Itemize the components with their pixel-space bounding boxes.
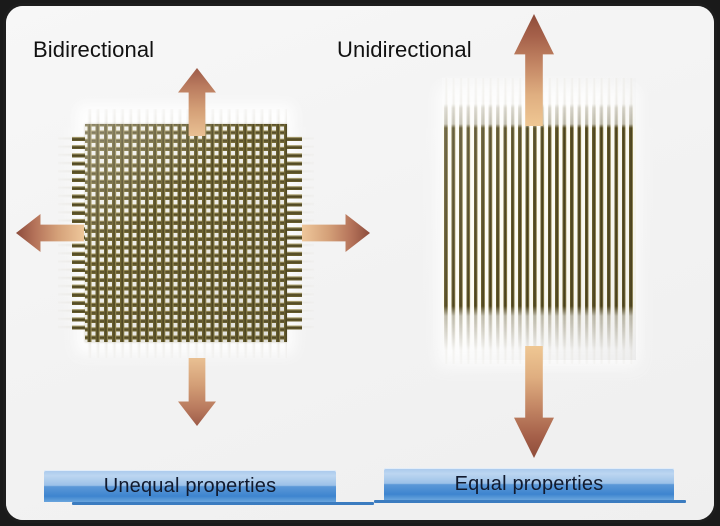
caption-bidirectional: Unequal properties — [44, 470, 336, 510]
figure-root: Bidirectional Unidirectional — [0, 0, 720, 526]
caption-right-text: Equal properties — [455, 473, 604, 496]
caption-left-bar: Unequal properties — [44, 470, 336, 502]
panel-heading-unidirectional: Unidirectional — [337, 37, 472, 63]
caption-unidirectional: Equal properties — [384, 468, 674, 508]
figure-frame: Bidirectional Unidirectional — [3, 3, 717, 523]
panel-unidirectional: Unidirectional — [366, 6, 717, 466]
caption-left-text: Unequal properties — [104, 475, 277, 498]
bidirectional-arrow-down-icon — [178, 358, 216, 426]
panel-heading-bidirectional: Bidirectional — [33, 37, 154, 63]
caption-right-underline — [374, 500, 686, 503]
bidirectional-weave-grid — [85, 124, 287, 342]
caption-right-bar: Equal properties — [384, 468, 674, 500]
caption-left-underline — [72, 502, 374, 505]
figure-canvas: Bidirectional Unidirectional — [6, 6, 714, 520]
panel-bidirectional: Bidirectional — [6, 6, 366, 446]
